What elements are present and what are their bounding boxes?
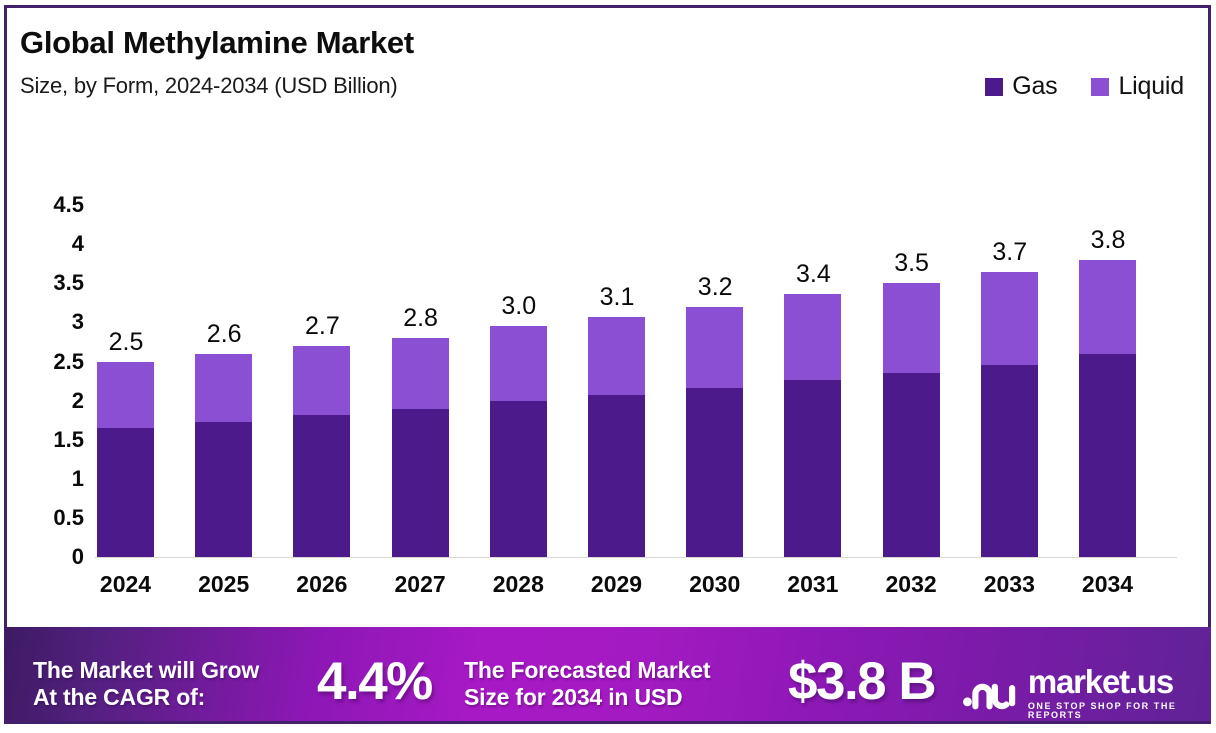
market-us-logo-icon bbox=[963, 672, 1018, 714]
chart-frame bbox=[4, 5, 1211, 724]
chart-legend: Gas Liquid bbox=[985, 74, 1184, 99]
infographic-root: Global Methylamine Market Size, by Form,… bbox=[0, 0, 1216, 733]
forecast-caption-line1: The Forecasted Market bbox=[464, 657, 710, 684]
logo-wordmark: market.us bbox=[1028, 665, 1211, 698]
brand-logo[interactable]: market.us ONE STOP SHOP FOR THE REPORTS bbox=[963, 665, 1211, 720]
logo-tagline: ONE STOP SHOP FOR THE REPORTS bbox=[1028, 702, 1211, 720]
page-title: Global Methylamine Market bbox=[20, 25, 1180, 61]
forecast-caption: The Forecasted Market Size for 2034 in U… bbox=[464, 657, 710, 711]
cagr-caption-line1: The Market will Grow bbox=[33, 657, 259, 684]
forecast-value: $3.8 B bbox=[788, 655, 935, 708]
legend-label-gas: Gas bbox=[1012, 74, 1057, 99]
cagr-value: 4.4% bbox=[317, 655, 432, 708]
legend-item-gas[interactable]: Gas bbox=[985, 74, 1057, 99]
forecast-caption-line2: Size for 2034 in USD bbox=[464, 684, 710, 711]
liquid-swatch-icon bbox=[1091, 78, 1109, 96]
cagr-caption: The Market will Grow At the CAGR of: bbox=[33, 657, 259, 711]
logo-text: market.us ONE STOP SHOP FOR THE REPORTS bbox=[1028, 665, 1211, 720]
legend-item-liquid[interactable]: Liquid bbox=[1091, 74, 1184, 99]
cagr-caption-line2: At the CAGR of: bbox=[33, 684, 259, 711]
footer-banner: The Market will Grow At the CAGR of: 4.4… bbox=[4, 627, 1211, 721]
legend-label-liquid: Liquid bbox=[1118, 74, 1184, 99]
gas-swatch-icon bbox=[985, 78, 1003, 96]
